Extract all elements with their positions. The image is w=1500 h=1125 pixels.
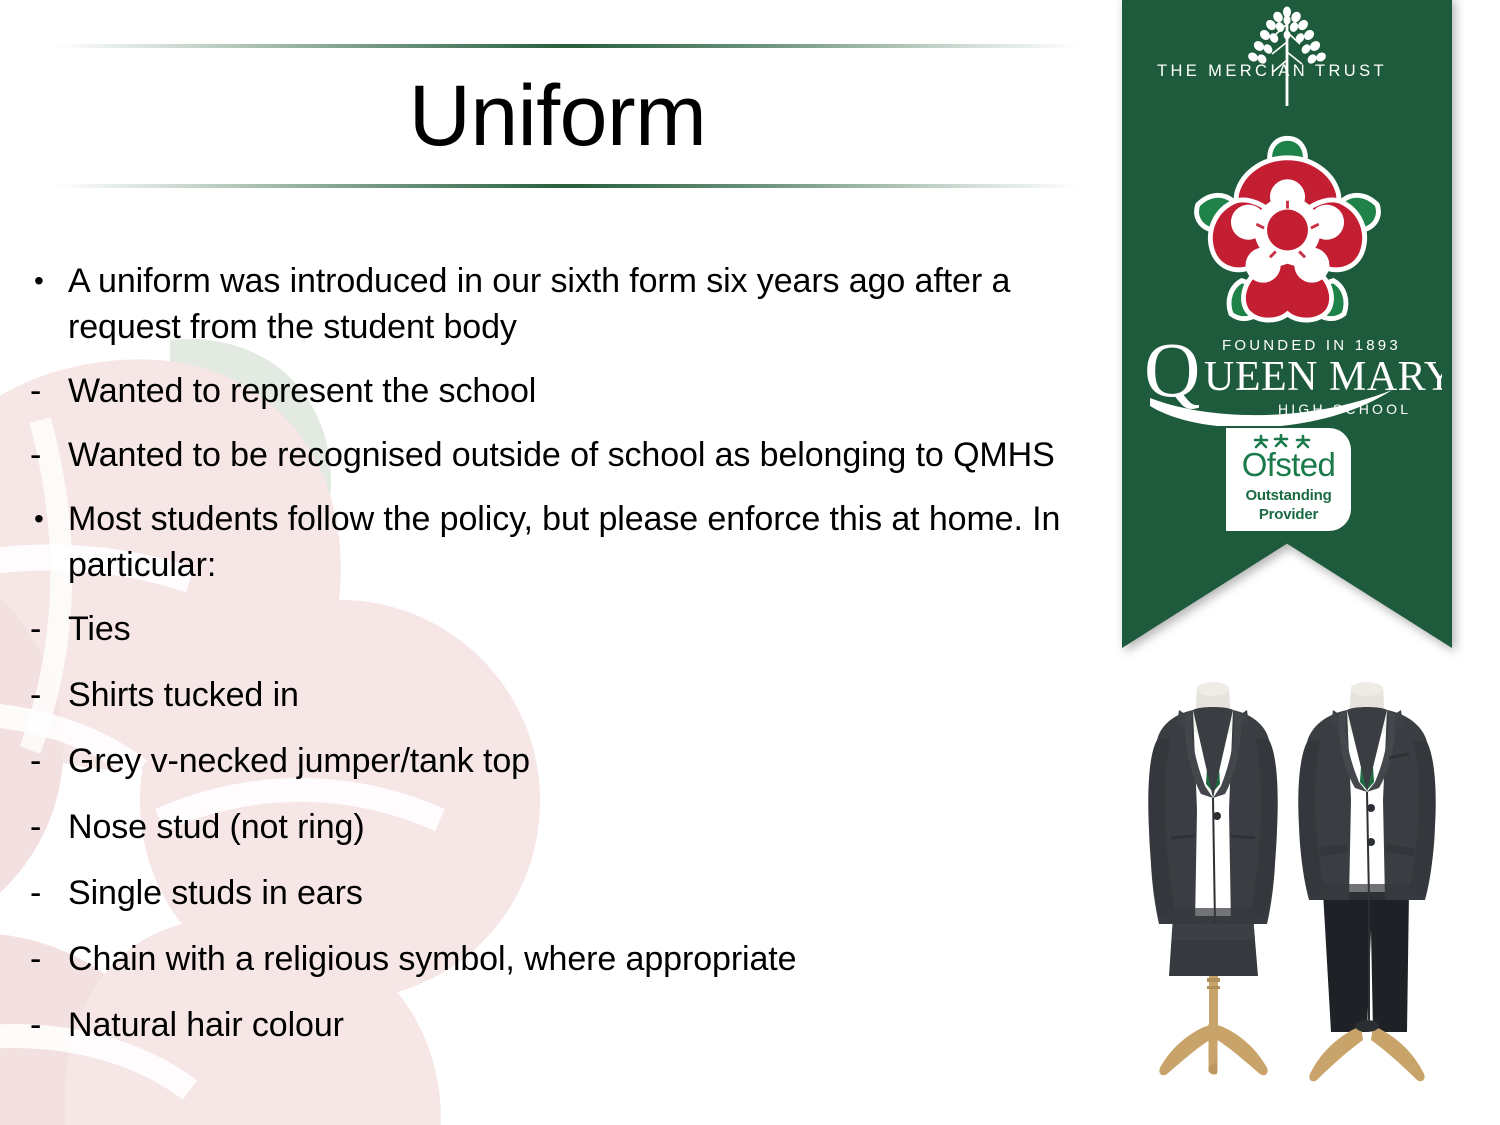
title-rule-top xyxy=(55,44,1080,48)
title-area: Uniform xyxy=(0,0,1115,215)
ofsted-rating-line1: Outstanding xyxy=(1226,486,1351,505)
list-item: - Nose stud (not ring) xyxy=(0,804,1075,850)
uniform-photograph xyxy=(1135,680,1490,1125)
list-item: - Natural hair colour xyxy=(0,1002,1075,1048)
bullet-text: A uniform was introduced in our sixth fo… xyxy=(68,258,1075,350)
bullet-marker: • xyxy=(28,258,68,304)
bullet-marker: - xyxy=(28,432,68,478)
school-banner: THE MERCIAN TRUST xyxy=(1122,0,1452,648)
banner-body: THE MERCIAN TRUST xyxy=(1122,0,1452,648)
list-item: - Chain with a religious symbol, where a… xyxy=(0,936,1075,982)
trust-name-right: TRUST xyxy=(1295,62,1417,81)
bullet-text: Wanted to be recognised outside of schoo… xyxy=(68,432,1075,478)
bullet-marker: - xyxy=(28,672,68,718)
bullet-marker: - xyxy=(28,804,68,850)
ofsted-rating-line2: Provider xyxy=(1226,505,1351,524)
list-item: • A uniform was introduced in our sixth … xyxy=(0,258,1075,350)
list-item: • Most students follow the policy, but p… xyxy=(0,496,1075,588)
slide: Uniform • A uniform was introduced in ou… xyxy=(0,0,1500,1125)
bullet-marker: - xyxy=(28,738,68,784)
ofsted-wordmark: Ofsted xyxy=(1226,446,1351,484)
bullet-marker: - xyxy=(28,936,68,982)
bullet-text: Chain with a religious symbol, where app… xyxy=(68,936,1075,982)
bullet-text: Single studs in ears xyxy=(68,870,1075,916)
list-item: - Grey v-necked jumper/tank top xyxy=(0,738,1075,784)
high-school-text: HIGH SCHOOL xyxy=(1278,401,1411,417)
bullet-marker: - xyxy=(28,870,68,916)
bullet-marker: - xyxy=(28,1002,68,1048)
bullet-text: Shirts tucked in xyxy=(68,672,1075,718)
bullet-marker: • xyxy=(28,496,68,542)
ofsted-rating: Outstanding Provider xyxy=(1226,486,1351,524)
bullet-text: Grey v-necked jumper/tank top xyxy=(68,738,1075,784)
trust-name-left: THE MERCIAN xyxy=(1157,62,1295,81)
bullet-marker: - xyxy=(28,606,68,652)
bullet-list: • A uniform was introduced in our sixth … xyxy=(0,258,1075,1068)
list-item: - Wanted to be recognised outside of sch… xyxy=(0,432,1075,478)
bullet-text: Natural hair colour xyxy=(68,1002,1075,1048)
list-item: - Ties xyxy=(0,606,1075,652)
bullet-text: Wanted to represent the school xyxy=(68,368,1075,414)
list-item: - Single studs in ears xyxy=(0,870,1075,916)
ofsted-badge: Ofsted Outstanding Provider xyxy=(1226,428,1351,531)
queen-marys-wordmark: Q FOUNDED IN 1893 UEEN MARY’S HIGH SCHOO… xyxy=(1142,326,1442,426)
school-name-text: UEEN MARY’S xyxy=(1204,354,1442,400)
list-item: - Wanted to represent the school xyxy=(0,368,1075,414)
tudor-rose-icon xyxy=(1190,130,1385,330)
bullet-text: Nose stud (not ring) xyxy=(68,804,1075,850)
title-rule-bottom xyxy=(55,184,1080,188)
bullet-marker: - xyxy=(28,368,68,414)
founded-text: FOUNDED IN 1893 xyxy=(1222,337,1401,354)
bullet-text: Most students follow the policy, but ple… xyxy=(68,496,1075,588)
mercian-trust-name: THE MERCIAN TRUST xyxy=(1122,62,1452,81)
list-item: - Shirts tucked in xyxy=(0,672,1075,718)
page-title: Uniform xyxy=(0,56,1115,176)
bullet-text: Ties xyxy=(68,606,1075,652)
mercian-tree-icon xyxy=(1122,2,1452,120)
